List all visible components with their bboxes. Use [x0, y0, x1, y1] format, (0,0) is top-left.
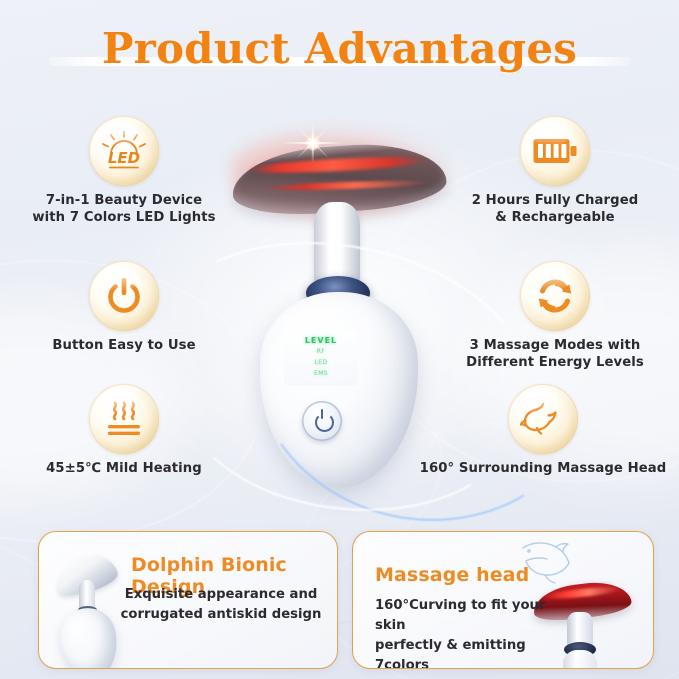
- card-dolphin-body: Exquisite appearance and corrugated anti…: [117, 585, 325, 625]
- product-collar-ring: [306, 276, 370, 310]
- battery-icon: [520, 116, 590, 186]
- power-button-icon: [89, 261, 159, 331]
- dolphin-icon: [508, 384, 578, 454]
- feature-led: LED 7-in-1 Beauty Device with 7 Colors L…: [6, 116, 242, 226]
- led-sun-icon: LED: [89, 116, 159, 186]
- feature-battery-label: 2 Hours Fully Charged & Rechargeable: [437, 193, 673, 226]
- card-massage-head[interactable]: Massage head 160°Curving to fit your ski…: [352, 531, 654, 669]
- power-button-icon-svg: [104, 276, 144, 316]
- product-head-glow: [230, 126, 450, 218]
- feature-button: Button Easy to Use: [6, 261, 242, 355]
- feature-massage-modes: 3 Massage Modes with Different Energy Le…: [437, 261, 673, 371]
- heat-waves-icon: [89, 384, 159, 454]
- feature-led-label: 7-in-1 Beauty Device with 7 Colors LED L…: [6, 193, 242, 226]
- card-dolphin-bionic-design[interactable]: Dolphin Bionic Design Exquisite appearan…: [38, 531, 338, 669]
- refresh-cycle-icon: [520, 261, 590, 331]
- feature-button-label: Button Easy to Use: [6, 338, 242, 355]
- battery-icon-svg: [532, 135, 578, 167]
- product-power-button: [302, 401, 342, 441]
- feature-heating: 45±5℃ Mild Heating: [6, 384, 242, 478]
- feature-massage-modes-label: 3 Massage Modes with Different Energy Le…: [437, 338, 673, 371]
- sparkle-icon: [282, 112, 344, 174]
- product-massage-head: [230, 139, 448, 220]
- display-level-label: LEVEL: [284, 335, 358, 346]
- led-sun-icon-svg: LED: [100, 130, 148, 172]
- heat-waves-icon-svg: [102, 399, 146, 439]
- feature-battery: 2 Hours Fully Charged & Rechargeable: [437, 116, 673, 226]
- feature-surrounding-head: 160° Surrounding Massage Head: [412, 384, 674, 478]
- product-body: [260, 292, 418, 488]
- product-advantages-infographic: Product Advantages LEVEL RF LED EMS: [0, 0, 679, 679]
- refresh-cycle-icon-svg: [533, 274, 577, 318]
- dolphin-icon-svg: [520, 399, 566, 439]
- page-title: Product Advantages: [0, 18, 679, 80]
- product-display-panel: LEVEL RF LED EMS: [284, 332, 358, 386]
- display-row-2: EMS: [284, 368, 358, 379]
- display-row-0: RF: [284, 346, 358, 357]
- card-massage-title: Massage head: [375, 564, 529, 586]
- feature-surrounding-head-label: 160° Surrounding Massage Head: [412, 461, 674, 478]
- header: Product Advantages: [0, 18, 679, 88]
- card-massage-body: 160°Curving to fit your skin perfectly &…: [375, 596, 565, 669]
- product-neck: [314, 202, 360, 288]
- display-row-1: LED: [284, 357, 358, 368]
- product-led-strip: [246, 154, 428, 176]
- product-led-strip-secondary: [262, 179, 430, 192]
- svg-text:LED: LED: [108, 149, 140, 167]
- feature-heating-label: 45±5℃ Mild Heating: [6, 461, 242, 478]
